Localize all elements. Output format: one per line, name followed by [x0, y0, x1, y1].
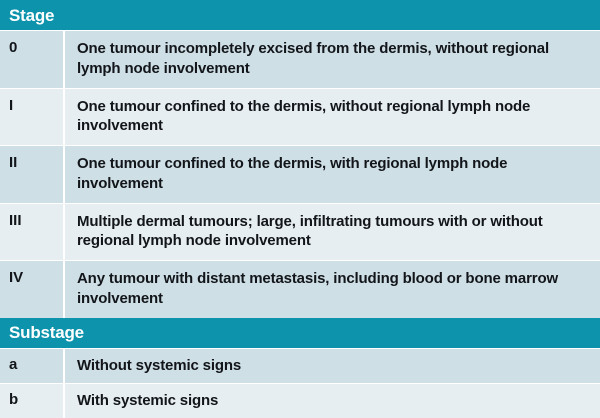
substage-code-label: b [9, 391, 18, 408]
stage-code-label: II [9, 154, 17, 171]
section-header-stage: Stage [0, 0, 600, 30]
stage-code-label: 0 [9, 39, 17, 56]
substage-code-cell: b [0, 384, 65, 418]
table-row: I One tumour confined to the dermis, wit… [0, 88, 600, 146]
stage-description-label: Any tumour with distant metastasis, incl… [77, 269, 588, 308]
stage-code-cell: IV [0, 261, 65, 318]
stage-description-cell: One tumour incompletely excised from the… [65, 31, 600, 88]
substage-description-label: Without systemic signs [77, 356, 588, 376]
stage-code-cell: 0 [0, 31, 65, 88]
stage-description-label: One tumour confined to the dermis, with … [77, 154, 588, 193]
substage-code-cell: a [0, 349, 65, 383]
section-header-stage-label: Stage [9, 7, 54, 24]
stage-description-label: One tumour confined to the dermis, witho… [77, 97, 588, 136]
section-header-substage: Substage [0, 318, 600, 348]
stage-code-label: IV [9, 269, 23, 286]
stage-description-cell: One tumour confined to the dermis, witho… [65, 89, 600, 146]
stage-code-label: I [9, 97, 13, 114]
substage-code-label: a [9, 356, 17, 373]
section-header-substage-label: Substage [9, 324, 84, 341]
stage-code-cell: I [0, 89, 65, 146]
stage-description-cell: Any tumour with distant metastasis, incl… [65, 261, 600, 318]
substage-description-label: With systemic signs [77, 391, 588, 411]
table-row: IV Any tumour with distant metastasis, i… [0, 260, 600, 318]
stage-description-cell: Multiple dermal tumours; large, infiltra… [65, 204, 600, 261]
stage-description-label: One tumour incompletely excised from the… [77, 39, 588, 78]
stage-description-label: Multiple dermal tumours; large, infiltra… [77, 212, 588, 251]
stage-code-label: III [9, 212, 22, 229]
substage-description-cell: With systemic signs [65, 384, 600, 418]
table-row: II One tumour confined to the dermis, wi… [0, 145, 600, 203]
substage-description-cell: Without systemic signs [65, 349, 600, 383]
table-row: 0 One tumour incompletely excised from t… [0, 30, 600, 88]
table-row: a Without systemic signs [0, 348, 600, 383]
stage-code-cell: III [0, 204, 65, 261]
stage-code-cell: II [0, 146, 65, 203]
staging-table: Stage 0 One tumour incompletely excised … [0, 0, 600, 418]
stage-description-cell: One tumour confined to the dermis, with … [65, 146, 600, 203]
table-row: b With systemic signs [0, 383, 600, 418]
table-row: III Multiple dermal tumours; large, infi… [0, 203, 600, 261]
